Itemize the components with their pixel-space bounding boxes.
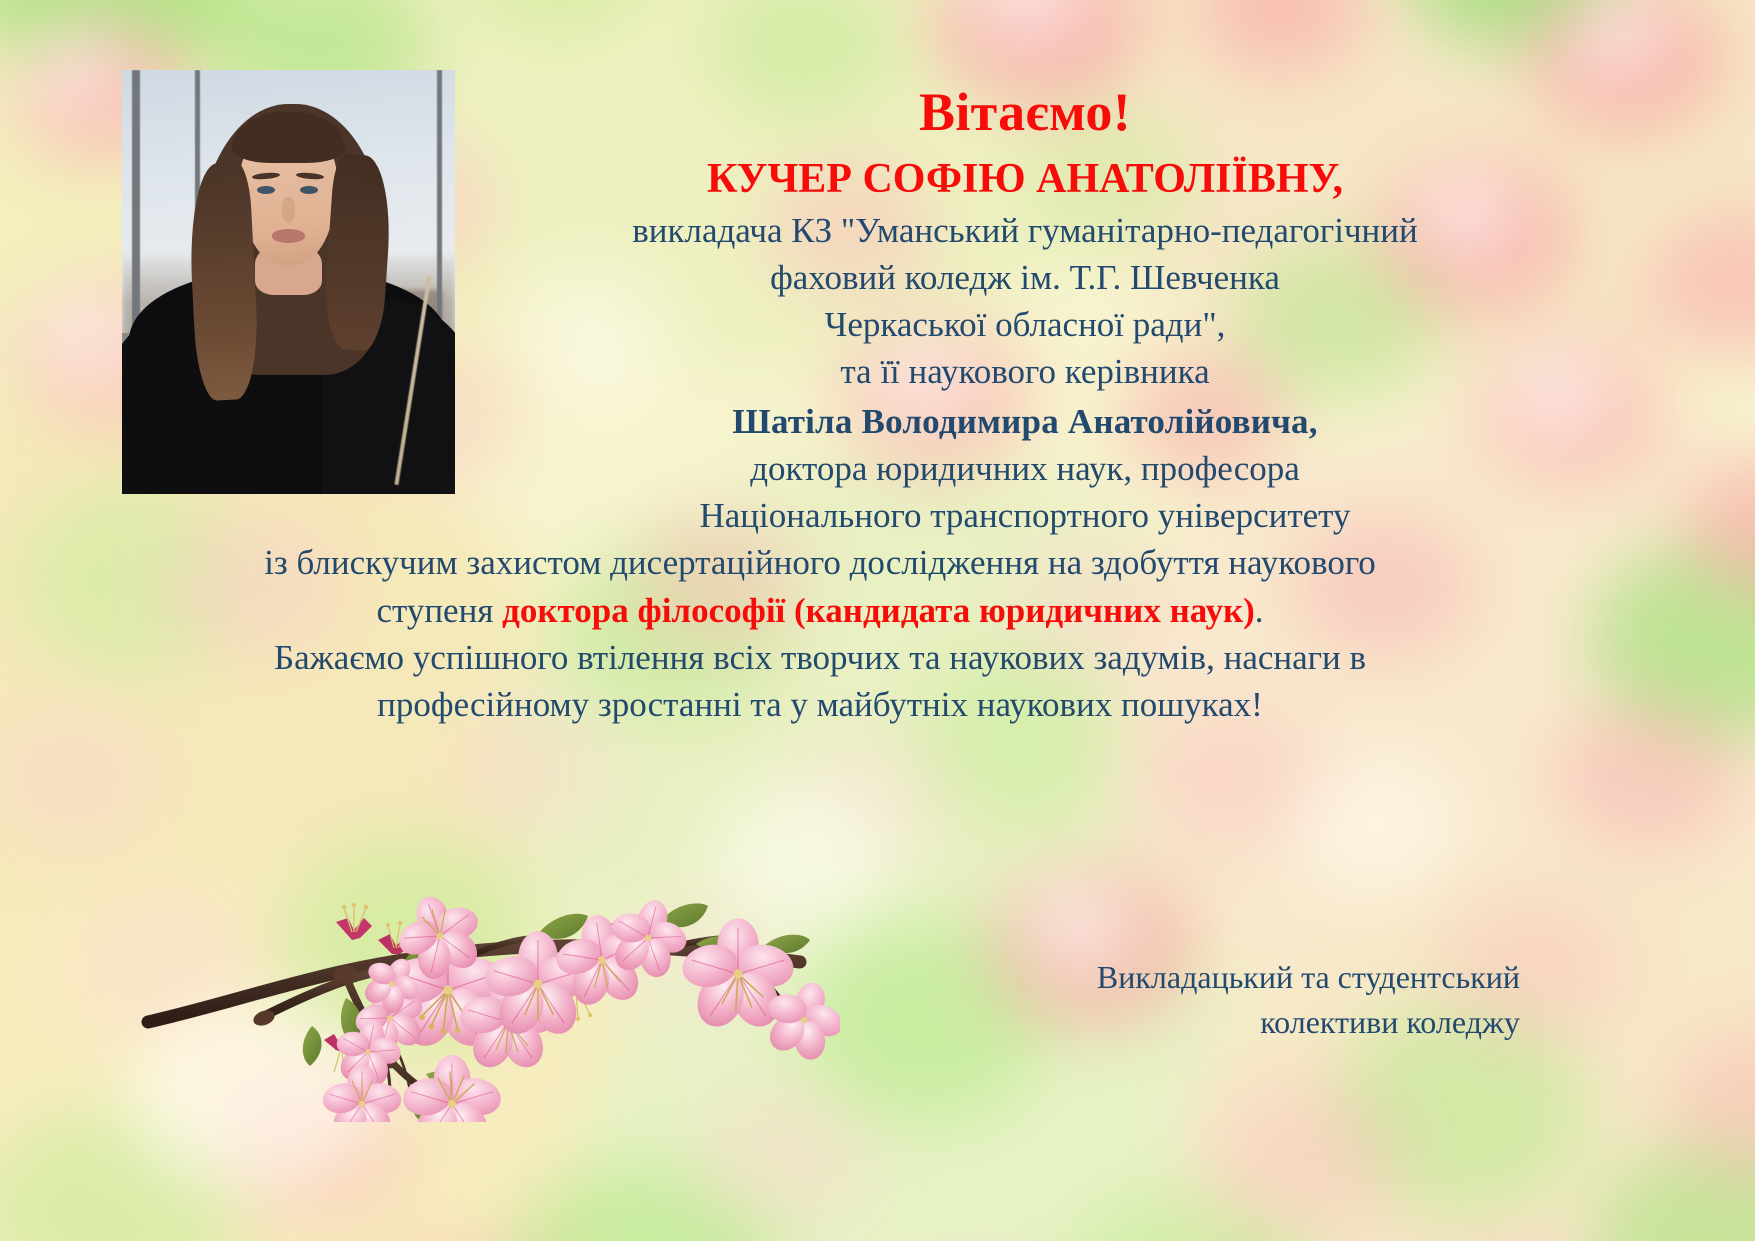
supervisor-name: Шатіла Володимира Анатолійовича, [530,403,1520,440]
achievement-line-2: ступеня доктора філософії (кандидата юри… [120,592,1520,629]
achievement-suffix: . [1255,591,1264,630]
poster-text-block: Вітаємо! КУЧЕР СОФІЮ АНАТОЛІЇВНУ, виклад… [120,84,1520,723]
wish-line-2: професійному зростанні та у майбутніх на… [120,686,1520,723]
degree-highlight: доктора філософії (кандидата юридичних н… [502,591,1255,630]
supervisor-title-1: доктора юридичних наук, професора [530,450,1520,487]
congratulation-poster: Вітаємо! КУЧЕР СОФІЮ АНАТОЛІЇВНУ, виклад… [0,0,1755,1241]
supervisor-intro: та її наукового керівника [530,353,1520,390]
greeting-title: Вітаємо! [530,84,1520,141]
achievement-prefix: ступеня [376,591,502,630]
sakura-branch-decoration [140,822,840,1122]
supervisor-title-2: Національного транспортного університету [530,497,1520,534]
achievement-line-1: із блискучим захистом дисертаційного дос… [120,544,1520,581]
affiliation-line-1: викладача КЗ "Уманський гуманітарно-педа… [530,212,1520,249]
affiliation-line-2: фаховий коледж ім. Т.Г. Шевченка [530,259,1520,296]
affiliation-line-3: Черкаської обласної ради", [530,306,1520,343]
wish-line-1: Бажаємо успішного втілення всіх творчих … [120,639,1520,676]
honoree-name: КУЧЕР СОФІЮ АНАТОЛІЇВНУ, [530,157,1520,202]
